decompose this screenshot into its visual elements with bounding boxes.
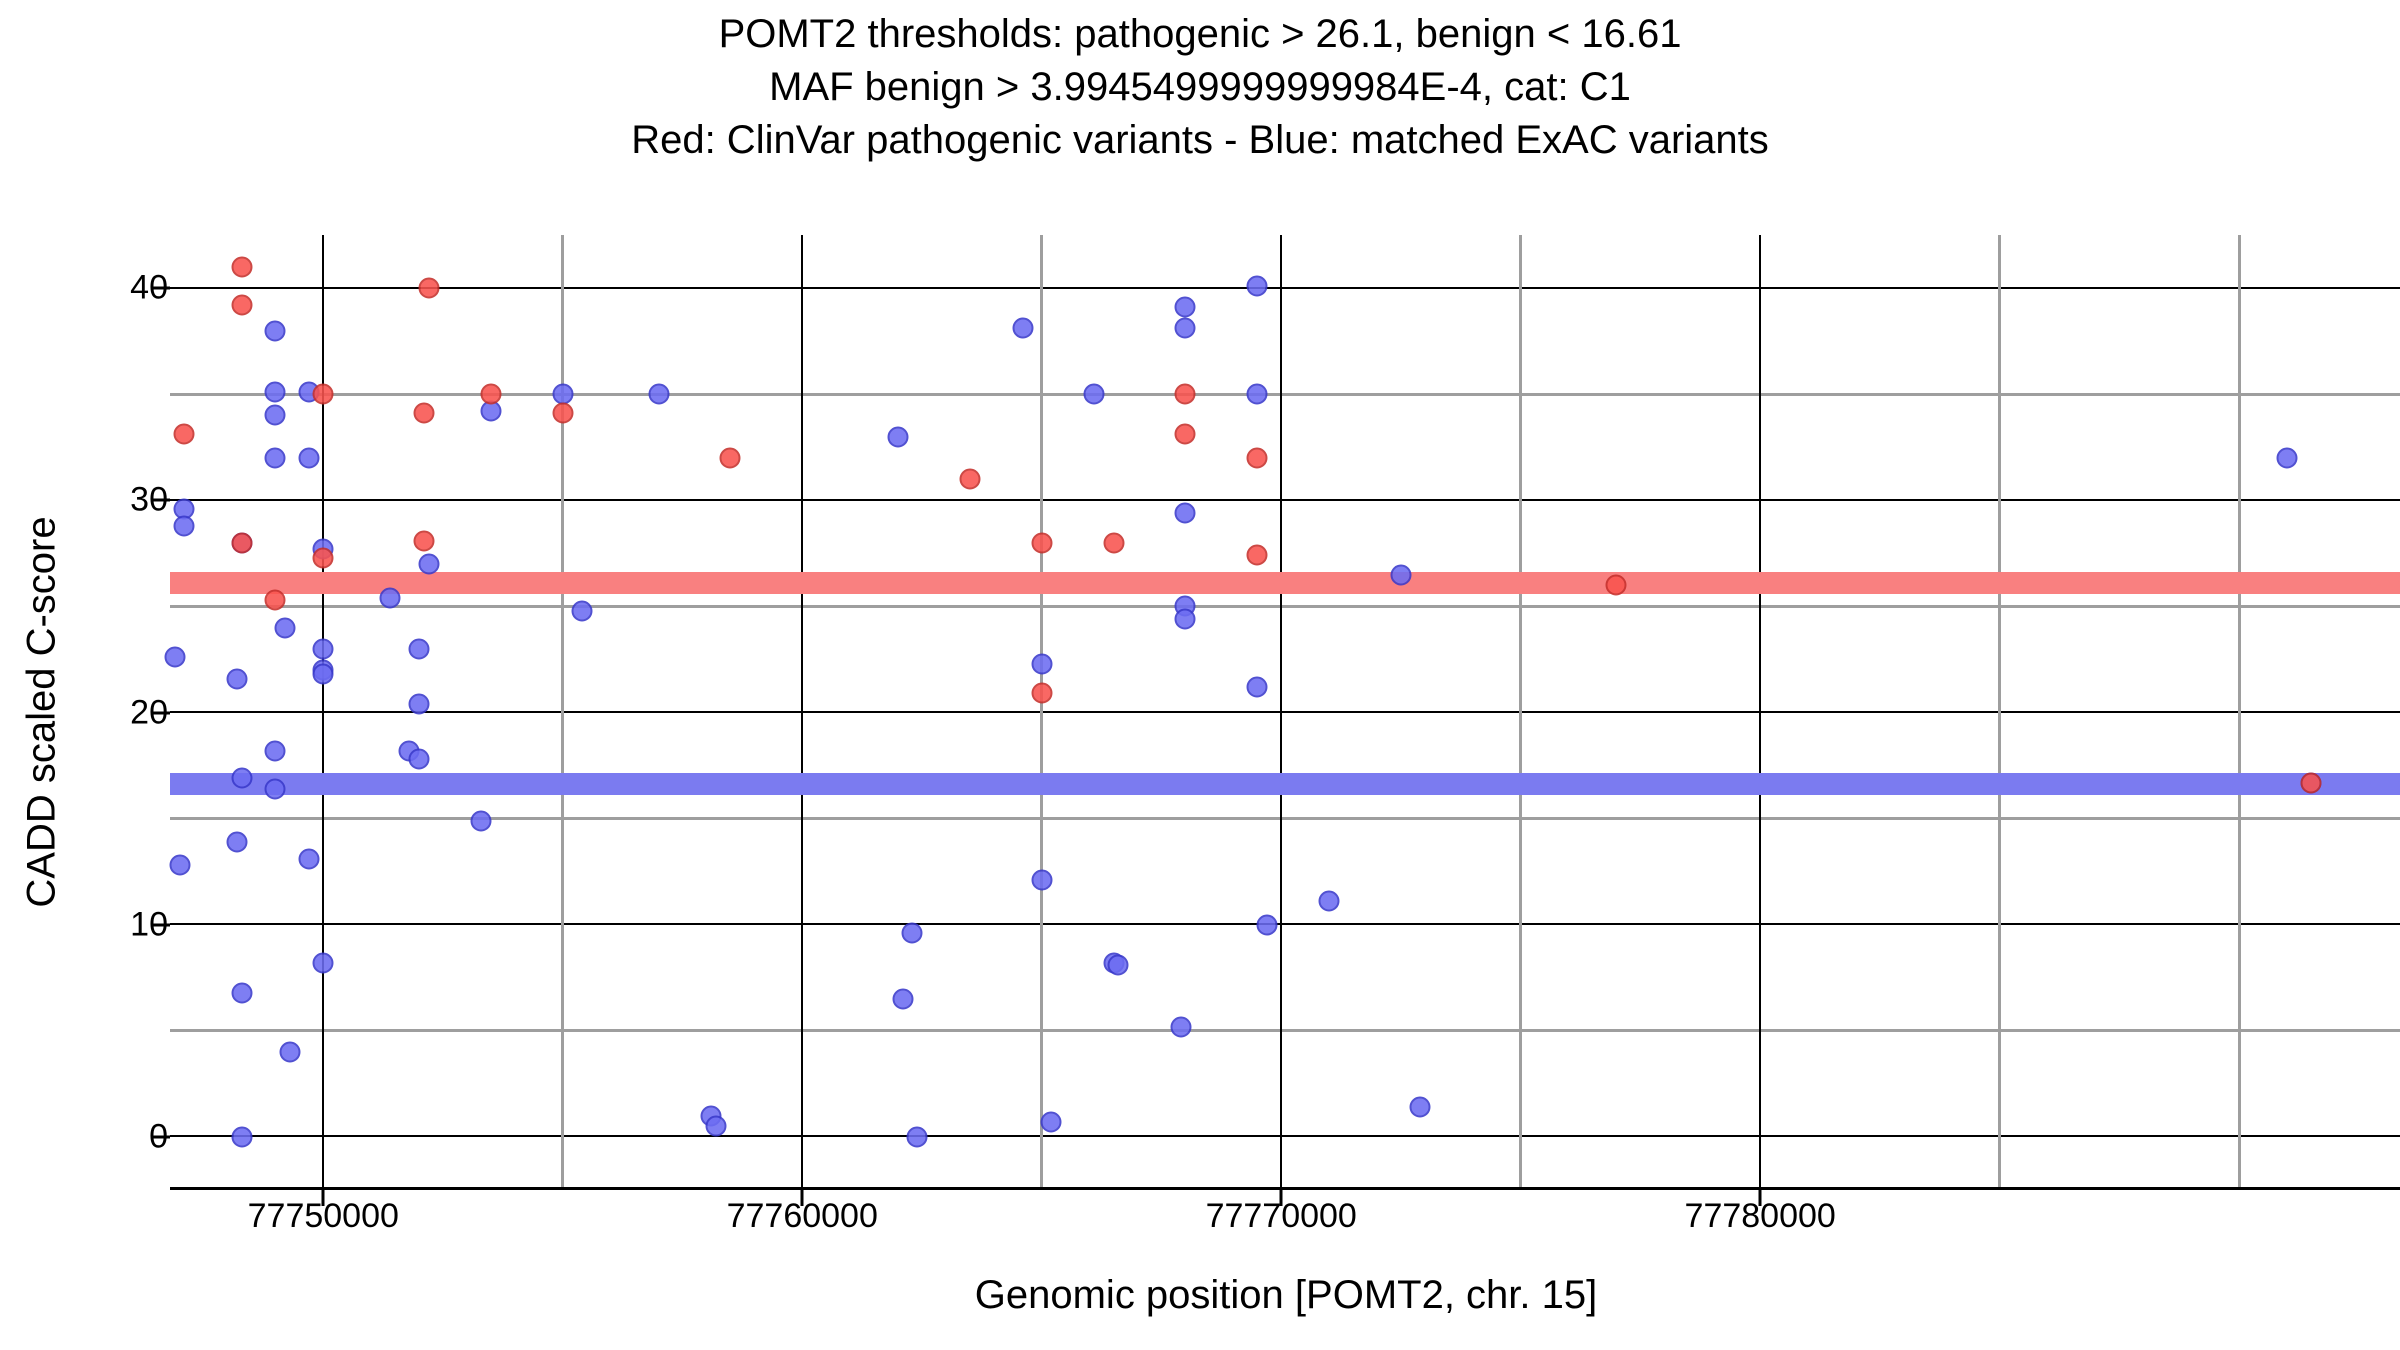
gridline-v-minor (1998, 235, 2001, 1190)
data-point-benign (1031, 870, 1052, 891)
title-line-2: MAF benign > 3.9945499999999984E-4, cat:… (0, 61, 2400, 114)
y-tick-mark (152, 499, 170, 502)
y-tick-mark (152, 923, 170, 926)
data-point-benign (265, 382, 286, 403)
gridline-v-major (801, 235, 803, 1190)
data-point-benign (409, 749, 430, 770)
data-point-benign (227, 668, 248, 689)
data-point-benign (1041, 1112, 1062, 1133)
gridline-v-major (1280, 235, 1282, 1190)
data-point-pathogenic (231, 532, 252, 553)
title-line-1: POMT2 thresholds: pathogenic > 26.1, ben… (0, 8, 2400, 61)
data-point-pathogenic (2300, 772, 2321, 793)
data-point-benign (265, 740, 286, 761)
data-point-benign (648, 384, 669, 405)
data-point-benign (1319, 891, 1340, 912)
x-axis-label: Genomic position [POMT2, chr. 15] (975, 1273, 1597, 1318)
data-point-pathogenic (418, 278, 439, 299)
x-axis-line (170, 1187, 2400, 1190)
data-point-pathogenic (313, 547, 334, 568)
gridline-h-major (170, 499, 2400, 501)
y-axis-label: CADD scaled C-score (20, 516, 65, 907)
x-tick-mark (801, 1190, 804, 1206)
x-tick-mark (1759, 1190, 1762, 1206)
data-point-benign (1012, 318, 1033, 339)
data-point-benign (1175, 318, 1196, 339)
gridline-v-minor (2238, 235, 2241, 1190)
data-point-benign (313, 664, 334, 685)
data-point-benign (265, 778, 286, 799)
data-point-benign (1247, 275, 1268, 296)
data-point-benign (907, 1126, 928, 1147)
data-point-benign (1410, 1097, 1431, 1118)
gridline-h-minor (170, 817, 2400, 820)
y-tick-label: 0 (28, 1117, 168, 1156)
data-point-benign (2277, 447, 2298, 468)
gridline-v-major (1759, 235, 1761, 1190)
data-point-benign (298, 447, 319, 468)
y-tick-mark (152, 711, 170, 714)
data-point-benign (892, 989, 913, 1010)
data-point-pathogenic (1175, 384, 1196, 405)
data-point-benign (409, 638, 430, 659)
data-point-pathogenic (1175, 424, 1196, 445)
data-point-benign (231, 768, 252, 789)
data-point-benign (1175, 503, 1196, 524)
data-point-benign (231, 1126, 252, 1147)
data-point-pathogenic (959, 469, 980, 490)
gridline-h-major (170, 1135, 2400, 1137)
data-point-benign (418, 553, 439, 574)
data-point-pathogenic (313, 384, 334, 405)
data-point-benign (380, 587, 401, 608)
data-point-pathogenic (1031, 683, 1052, 704)
data-point-benign (265, 320, 286, 341)
data-point-benign (409, 694, 430, 715)
data-point-benign (1031, 653, 1052, 674)
data-point-benign (298, 848, 319, 869)
data-point-pathogenic (413, 530, 434, 551)
data-point-benign (174, 515, 195, 536)
threshold-band-benign (170, 773, 2400, 795)
data-point-benign (571, 600, 592, 621)
data-point-benign (1390, 564, 1411, 585)
data-point-benign (1175, 297, 1196, 318)
data-point-benign (313, 952, 334, 973)
data-point-benign (1256, 914, 1277, 935)
data-point-benign (706, 1116, 727, 1137)
y-tick-mark (152, 1135, 170, 1138)
data-point-benign (279, 1042, 300, 1063)
x-tick-mark (322, 1190, 325, 1206)
gridline-h-major (170, 711, 2400, 713)
y-tick-label: 30 (28, 481, 168, 520)
data-point-benign (274, 617, 295, 638)
threshold-band-pathogenic (170, 572, 2400, 594)
data-point-benign (1247, 677, 1268, 698)
data-point-benign (313, 638, 334, 659)
data-point-benign (1175, 609, 1196, 630)
x-tick-mark (1280, 1190, 1283, 1206)
data-point-benign (231, 982, 252, 1003)
data-point-pathogenic (720, 447, 741, 468)
data-point-benign (227, 831, 248, 852)
data-point-benign (1084, 384, 1105, 405)
data-point-benign (1108, 955, 1129, 976)
data-point-benign (1170, 1016, 1191, 1037)
data-point-pathogenic (1247, 545, 1268, 566)
data-point-benign (471, 810, 492, 831)
data-point-pathogenic (552, 403, 573, 424)
y-tick-label: 10 (28, 905, 168, 944)
data-point-pathogenic (480, 384, 501, 405)
data-point-benign (164, 647, 185, 668)
data-point-pathogenic (231, 256, 252, 277)
y-tick-label: 40 (28, 269, 168, 308)
plot-area: 0102030407775000077760000777700007778000… (170, 235, 2400, 1190)
data-point-pathogenic (265, 590, 286, 611)
data-point-pathogenic (1247, 447, 1268, 468)
chart-title: POMT2 thresholds: pathogenic > 26.1, ben… (0, 8, 2400, 166)
y-tick-mark (152, 287, 170, 290)
data-point-benign (169, 855, 190, 876)
gridline-h-major (170, 923, 2400, 925)
data-point-benign (1247, 384, 1268, 405)
data-point-benign (265, 405, 286, 426)
data-point-benign (265, 447, 286, 468)
gridline-h-minor (170, 1029, 2400, 1032)
gridline-v-major (322, 235, 324, 1190)
data-point-benign (902, 923, 923, 944)
data-point-pathogenic (1103, 532, 1124, 553)
gridline-h-minor (170, 605, 2400, 608)
data-point-benign (888, 426, 909, 447)
gridline-h-minor (170, 393, 2400, 396)
data-point-pathogenic (231, 295, 252, 316)
chart-figure: POMT2 thresholds: pathogenic > 26.1, ben… (0, 0, 2400, 1350)
data-point-pathogenic (413, 403, 434, 424)
gridline-v-minor (1040, 235, 1043, 1190)
data-point-benign (552, 384, 573, 405)
data-point-pathogenic (1031, 532, 1052, 553)
gridline-v-minor (561, 235, 564, 1190)
title-line-3: Red: ClinVar pathogenic variants - Blue:… (0, 114, 2400, 167)
data-point-pathogenic (174, 424, 195, 445)
data-point-pathogenic (1606, 575, 1627, 596)
gridline-v-minor (1519, 235, 1522, 1190)
gridline-h-major (170, 287, 2400, 289)
